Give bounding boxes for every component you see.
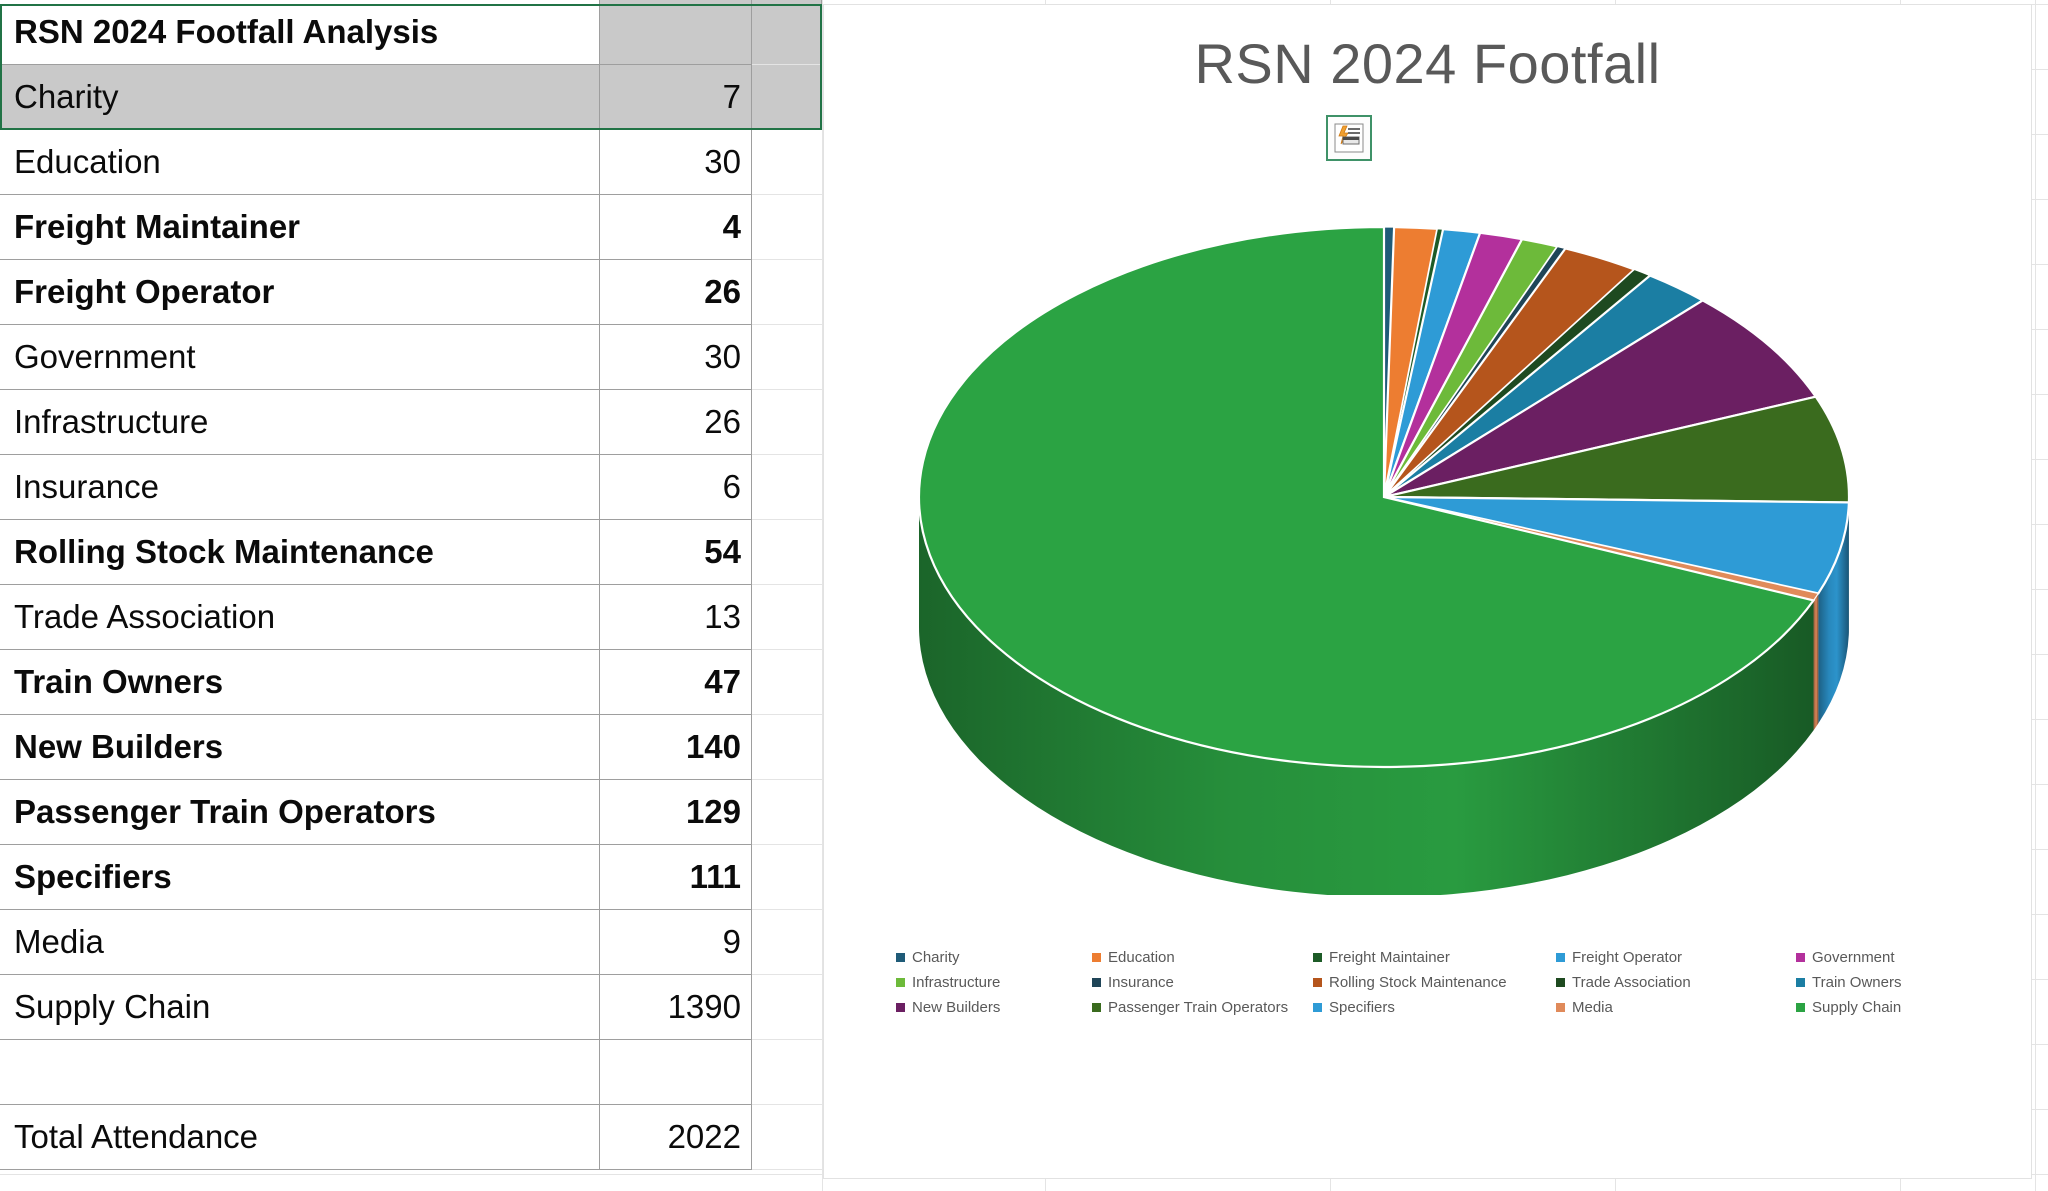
cell-category-label[interactable]: Trade Association <box>0 585 600 650</box>
legend-label: Passenger Train Operators <box>1108 999 1288 1016</box>
table-row[interactable]: Passenger Train Operators129 <box>0 780 822 845</box>
table-row[interactable]: Charity7 <box>0 65 822 130</box>
legend-color-swatch <box>1796 1003 1805 1012</box>
table-row[interactable]: Train Owners47 <box>0 650 822 715</box>
legend-label: Insurance <box>1108 974 1174 991</box>
cell-category-label[interactable]: Train Owners <box>0 650 600 715</box>
cell-empty[interactable] <box>752 1040 822 1105</box>
table-row[interactable]: Rolling Stock Maintenance54 <box>0 520 822 585</box>
cell-category-label[interactable]: New Builders <box>0 715 600 780</box>
legend-item[interactable]: Infrastructure <box>896 974 1000 991</box>
legend-label: Supply Chain <box>1812 999 1901 1016</box>
legend-item[interactable]: Train Owners <box>1796 974 1901 991</box>
cell-count-value[interactable]: 4 <box>600 195 752 260</box>
cell-empty[interactable] <box>752 650 822 715</box>
legend-label: Education <box>1108 949 1175 966</box>
legend-color-swatch <box>1092 953 1101 962</box>
cell-empty[interactable] <box>752 715 822 780</box>
cell-count-value[interactable]: 140 <box>600 715 752 780</box>
cell-count-value[interactable]: 26 <box>600 260 752 325</box>
cell-category-label[interactable]: Passenger Train Operators <box>0 780 600 845</box>
legend-item[interactable]: Government <box>1796 949 1895 966</box>
cell-empty[interactable] <box>752 910 822 975</box>
legend-item[interactable]: Insurance <box>1092 974 1174 991</box>
legend-color-swatch <box>1556 953 1565 962</box>
cell-count-value[interactable] <box>600 0 752 65</box>
table-row[interactable]: Insurance6 <box>0 455 822 520</box>
table-row[interactable]: Education30 <box>0 130 822 195</box>
table-row[interactable]: Total Attendance2022 <box>0 1105 822 1170</box>
legend-item[interactable]: Freight Maintainer <box>1313 949 1450 966</box>
cell-category-label[interactable]: Freight Maintainer <box>0 195 600 260</box>
cell-empty[interactable] <box>752 390 822 455</box>
legend-color-swatch <box>1092 978 1101 987</box>
table-row[interactable]: Specifiers111 <box>0 845 822 910</box>
cell-count-value[interactable]: 6 <box>600 455 752 520</box>
cell-count-value[interactable]: 2022 <box>600 1105 752 1170</box>
legend-item[interactable]: Trade Association <box>1556 974 1691 991</box>
cell-category-label[interactable]: RSN 2024 Footfall Analysis <box>0 0 600 65</box>
legend-color-swatch <box>1556 1003 1565 1012</box>
cell-category-label[interactable]: Insurance <box>0 455 600 520</box>
cell-category-label[interactable]: Total Attendance <box>0 1105 600 1170</box>
chart-legend: CharityEducationFreight MaintainerFreigh… <box>896 945 2016 1020</box>
cell-empty[interactable] <box>752 780 822 845</box>
legend-label: Rolling Stock Maintenance <box>1329 974 1507 991</box>
cell-count-value[interactable]: 26 <box>600 390 752 455</box>
cell-count-value[interactable]: 30 <box>600 130 752 195</box>
legend-label: Freight Operator <box>1572 949 1682 966</box>
legend-label: Infrastructure <box>912 974 1000 991</box>
legend-label: Trade Association <box>1572 974 1691 991</box>
pie-slice-side-media <box>1814 593 1819 730</box>
legend-label: Train Owners <box>1812 974 1901 991</box>
legend-label: Media <box>1572 999 1613 1016</box>
legend-color-swatch <box>1796 953 1805 962</box>
table-row[interactable]: Government30 <box>0 325 822 390</box>
cell-empty[interactable] <box>752 65 822 130</box>
cell-category-label[interactable]: Infrastructure <box>0 390 600 455</box>
cell-count-value[interactable]: 1390 <box>600 975 752 1040</box>
legend-label: New Builders <box>912 999 1000 1016</box>
chart-title: RSN 2024 Footfall <box>824 31 2031 96</box>
legend-item[interactable]: Specifiers <box>1313 999 1395 1016</box>
legend-row: CharityEducationFreight MaintainerFreigh… <box>896 945 2016 970</box>
cell-category-label[interactable]: Rolling Stock Maintenance <box>0 520 600 585</box>
legend-item[interactable]: Media <box>1556 999 1613 1016</box>
cell-count-value[interactable]: 129 <box>600 780 752 845</box>
table-row[interactable]: Trade Association13 <box>0 585 822 650</box>
table-row[interactable]: Media9 <box>0 910 822 975</box>
table-row[interactable] <box>0 1040 822 1105</box>
cell-category-label[interactable] <box>0 1040 600 1105</box>
cell-count-value[interactable]: 111 <box>600 845 752 910</box>
excel-worksheet-view: RSN 2024 Footfall AnalysisCharity7Educat… <box>0 0 2048 1191</box>
cell-category-label[interactable]: Media <box>0 910 600 975</box>
legend-item[interactable]: Passenger Train Operators <box>1092 999 1288 1016</box>
cell-category-label[interactable]: Specifiers <box>0 845 600 910</box>
cell-empty[interactable] <box>752 130 822 195</box>
cell-empty[interactable] <box>752 585 822 650</box>
legend-item[interactable]: Education <box>1092 949 1175 966</box>
legend-row: InfrastructureInsuranceRolling Stock Mai… <box>896 970 2016 995</box>
pie-chart-svg[interactable] <box>824 125 2033 895</box>
cell-category-label[interactable]: Education <box>0 130 600 195</box>
legend-color-swatch <box>896 1003 905 1012</box>
cell-empty[interactable] <box>752 325 822 390</box>
table-row[interactable]: New Builders140 <box>0 715 822 780</box>
table-row[interactable]: Supply Chain1390 <box>0 975 822 1040</box>
table-row[interactable]: Freight Operator26 <box>0 260 822 325</box>
cell-empty[interactable] <box>752 520 822 585</box>
data-table: RSN 2024 Footfall AnalysisCharity7Educat… <box>0 0 822 1170</box>
legend-color-swatch <box>1313 953 1322 962</box>
legend-color-swatch <box>896 978 905 987</box>
legend-label: Freight Maintainer <box>1329 949 1450 966</box>
legend-color-swatch <box>1556 978 1565 987</box>
legend-color-swatch <box>1796 978 1805 987</box>
cell-empty[interactable] <box>752 845 822 910</box>
legend-row: New BuildersPassenger Train OperatorsSpe… <box>896 995 2016 1020</box>
legend-color-swatch <box>896 953 905 962</box>
legend-color-swatch <box>1313 978 1322 987</box>
cell-count-value[interactable]: 47 <box>600 650 752 715</box>
cell-category-label[interactable]: Government <box>0 325 600 390</box>
cell-category-label[interactable]: Supply Chain <box>0 975 600 1040</box>
legend-label: Specifiers <box>1329 999 1395 1016</box>
cell-count-value[interactable]: 30 <box>600 325 752 390</box>
cell-count-value[interactable]: 54 <box>600 520 752 585</box>
cell-empty[interactable] <box>752 975 822 1040</box>
pie-chart[interactable] <box>824 125 2033 895</box>
table-row[interactable]: Freight Maintainer4 <box>0 195 822 260</box>
legend-label: Charity <box>912 949 960 966</box>
cell-category-label[interactable]: Charity <box>0 65 600 130</box>
cell-empty[interactable] <box>752 260 822 325</box>
legend-color-swatch <box>1313 1003 1322 1012</box>
legend-item[interactable]: Charity <box>896 949 960 966</box>
cell-empty[interactable] <box>752 1105 822 1170</box>
legend-color-swatch <box>1092 1003 1101 1012</box>
cell-count-value[interactable] <box>600 1040 752 1105</box>
legend-item[interactable]: Freight Operator <box>1556 949 1682 966</box>
table-row[interactable]: Infrastructure26 <box>0 390 822 455</box>
cell-empty[interactable] <box>752 455 822 520</box>
cell-empty[interactable] <box>752 195 822 260</box>
legend-item[interactable]: Rolling Stock Maintenance <box>1313 974 1507 991</box>
table-header-row[interactable]: RSN 2024 Footfall Analysis <box>0 0 822 65</box>
cell-empty[interactable] <box>752 0 822 65</box>
cell-category-label[interactable]: Freight Operator <box>0 260 600 325</box>
chart-object[interactable]: RSN 2024 Footfall CharityEducationFreigh… <box>823 4 2032 1179</box>
legend-item[interactable]: Supply Chain <box>1796 999 1901 1016</box>
cell-count-value[interactable]: 13 <box>600 585 752 650</box>
cell-count-value[interactable]: 9 <box>600 910 752 975</box>
cell-count-value[interactable]: 7 <box>600 65 752 130</box>
legend-label: Government <box>1812 949 1895 966</box>
legend-item[interactable]: New Builders <box>896 999 1000 1016</box>
